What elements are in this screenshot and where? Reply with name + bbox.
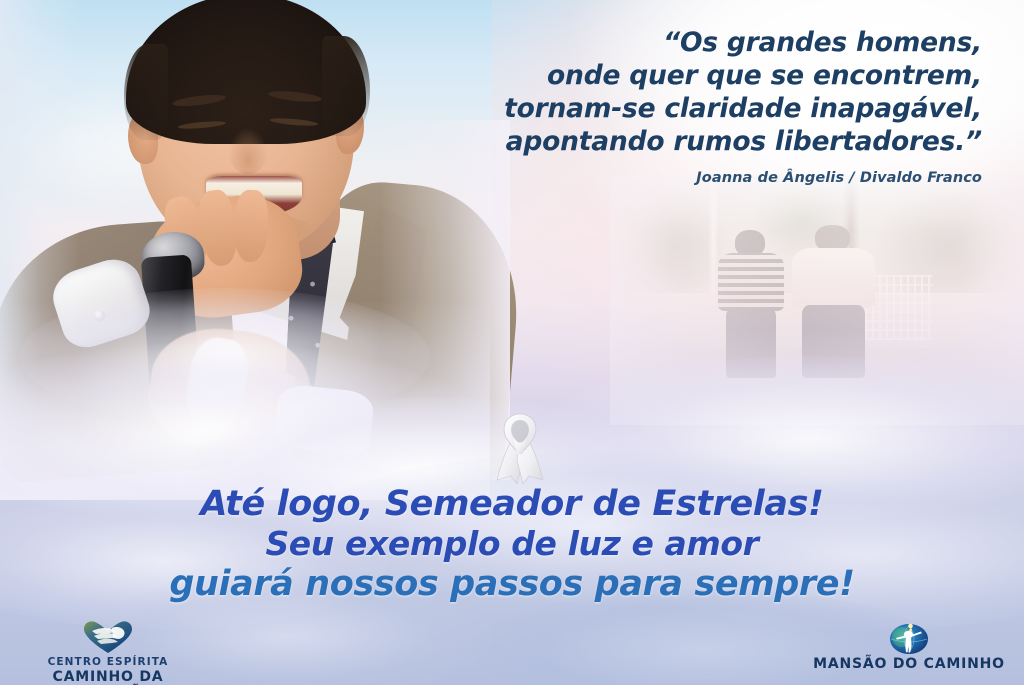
quote-line-4: apontando rumos libertadores.” [422, 125, 982, 158]
logo-mansao-do-caminho: MANSÃO DO CAMINHO [804, 618, 1014, 672]
memorial-poster: “Os grandes homens, onde quer que se enc… [0, 0, 1024, 685]
logo-left-line-1: CENTRO ESPÍRITA [8, 656, 208, 669]
portrait-nose [228, 128, 268, 174]
heart-hands-icon [8, 618, 208, 656]
portrait-divaldo-franco [0, 0, 470, 470]
portrait-hair-side-left [124, 44, 168, 140]
headline-line-2: Seu exemplo de luz e amor [0, 524, 1024, 564]
portrait-fade-bottom [0, 300, 490, 500]
quote-attribution: Joanna de Ângelis / Divaldo Franco [422, 170, 982, 186]
mourning-ribbon-icon [487, 408, 553, 484]
logo-right-line-1: MANSÃO DO CAMINHO [804, 656, 1014, 672]
portrait-hair-side-right [322, 36, 370, 136]
quote-block: “Os grandes homens, onde quer que se enc… [422, 26, 982, 186]
bg-photo-fade-overlay [610, 175, 1024, 425]
quote-line-1: “Os grandes homens, [422, 26, 982, 59]
headline-line-3: guiará nossos passos para sempre! [0, 564, 1024, 604]
headline-line-1: Até logo, Semeador de Estrelas! [0, 484, 1024, 524]
quote-line-2: onde quer que se encontrem, [422, 59, 982, 92]
logo-left-line-2: CAMINHO DA REDENÇÃO [8, 669, 208, 685]
background-photo-two-people-walking [610, 175, 1024, 425]
quote-line-3: tornam-se claridade inapagável, [422, 92, 982, 125]
logo-centro-espirita: CENTRO ESPÍRITA CAMINHO DA REDENÇÃO [8, 618, 208, 685]
headline-block: Até logo, Semeador de Estrelas! Seu exem… [0, 484, 1024, 604]
globe-figure-flame-icon [804, 618, 1014, 656]
